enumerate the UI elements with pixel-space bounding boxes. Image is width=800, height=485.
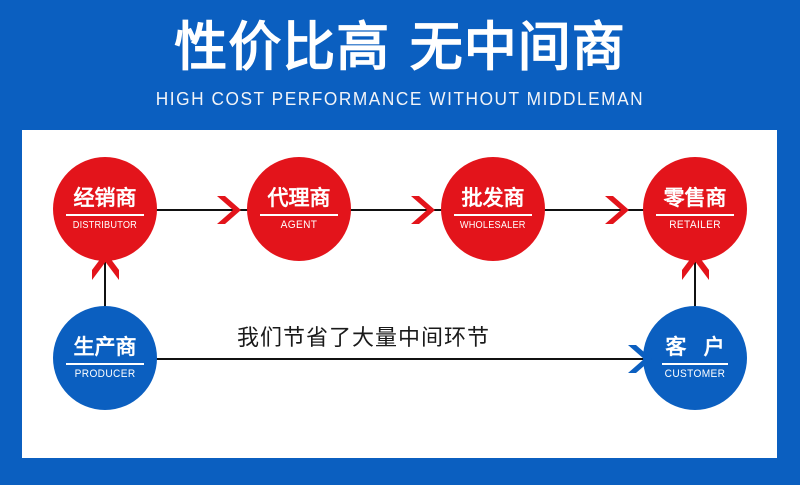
middle-caption: 我们节省了大量中间环节	[237, 326, 490, 352]
node-divider	[66, 363, 144, 365]
node-producer-label-en: PRODUCER	[75, 368, 136, 381]
node-customer[interactable]: 客 户 CUSTOMER	[643, 306, 747, 410]
node-wholesaler-label-cn: 批发商	[462, 186, 525, 211]
bottom-chain-line	[104, 358, 696, 360]
chevron-up-icon	[680, 254, 711, 289]
node-retailer[interactable]: 零售商 RETAILER	[643, 157, 747, 261]
node-agent[interactable]: 代理商 AGENT	[247, 157, 351, 261]
node-customer-label-cn: 客 户	[660, 335, 729, 360]
node-divider	[454, 214, 532, 216]
header-banner: 性价比高 无中间商 HIGH COST PERFORMANCE WITHOUT …	[0, 0, 800, 130]
chevron-right-icon	[409, 194, 439, 231]
node-divider	[656, 214, 734, 216]
infographic-canvas: 性价比高 无中间商 HIGH COST PERFORMANCE WITHOUT …	[0, 0, 800, 485]
header-subtitle: HIGH COST PERFORMANCE WITHOUT MIDDLEMAN	[16, 88, 784, 110]
chevron-right-icon	[215, 194, 245, 231]
node-divider	[260, 214, 338, 216]
node-retailer-label-cn: 零售商	[664, 186, 727, 211]
chevron-up-icon	[90, 254, 121, 289]
header-title: 性价比高 无中间商	[0, 18, 800, 78]
node-divider	[662, 363, 728, 365]
chevron-right-icon	[603, 194, 633, 231]
node-distributor[interactable]: 经销商 DISTRIBUTOR	[53, 157, 157, 261]
node-divider	[66, 214, 144, 216]
node-wholesaler-label-en: WHOLESALER	[460, 219, 526, 232]
node-agent-label-en: AGENT	[281, 219, 318, 232]
node-distributor-label-en: DISTRIBUTOR	[73, 219, 137, 232]
node-producer-label-cn: 生产商	[74, 335, 137, 360]
node-agent-label-cn: 代理商	[268, 186, 331, 211]
node-customer-label-en: CUSTOMER	[665, 368, 726, 381]
node-distributor-label-cn: 经销商	[74, 186, 137, 211]
chevron-right-icon	[626, 343, 656, 380]
node-wholesaler[interactable]: 批发商 WHOLESALER	[441, 157, 545, 261]
node-retailer-label-en: RETAILER	[669, 219, 721, 232]
diagram-panel: 我们节省了大量中间环节 经销商 DISTRIBUTOR 代理商 AGENT 批发…	[22, 130, 777, 458]
node-producer[interactable]: 生产商 PRODUCER	[53, 306, 157, 410]
